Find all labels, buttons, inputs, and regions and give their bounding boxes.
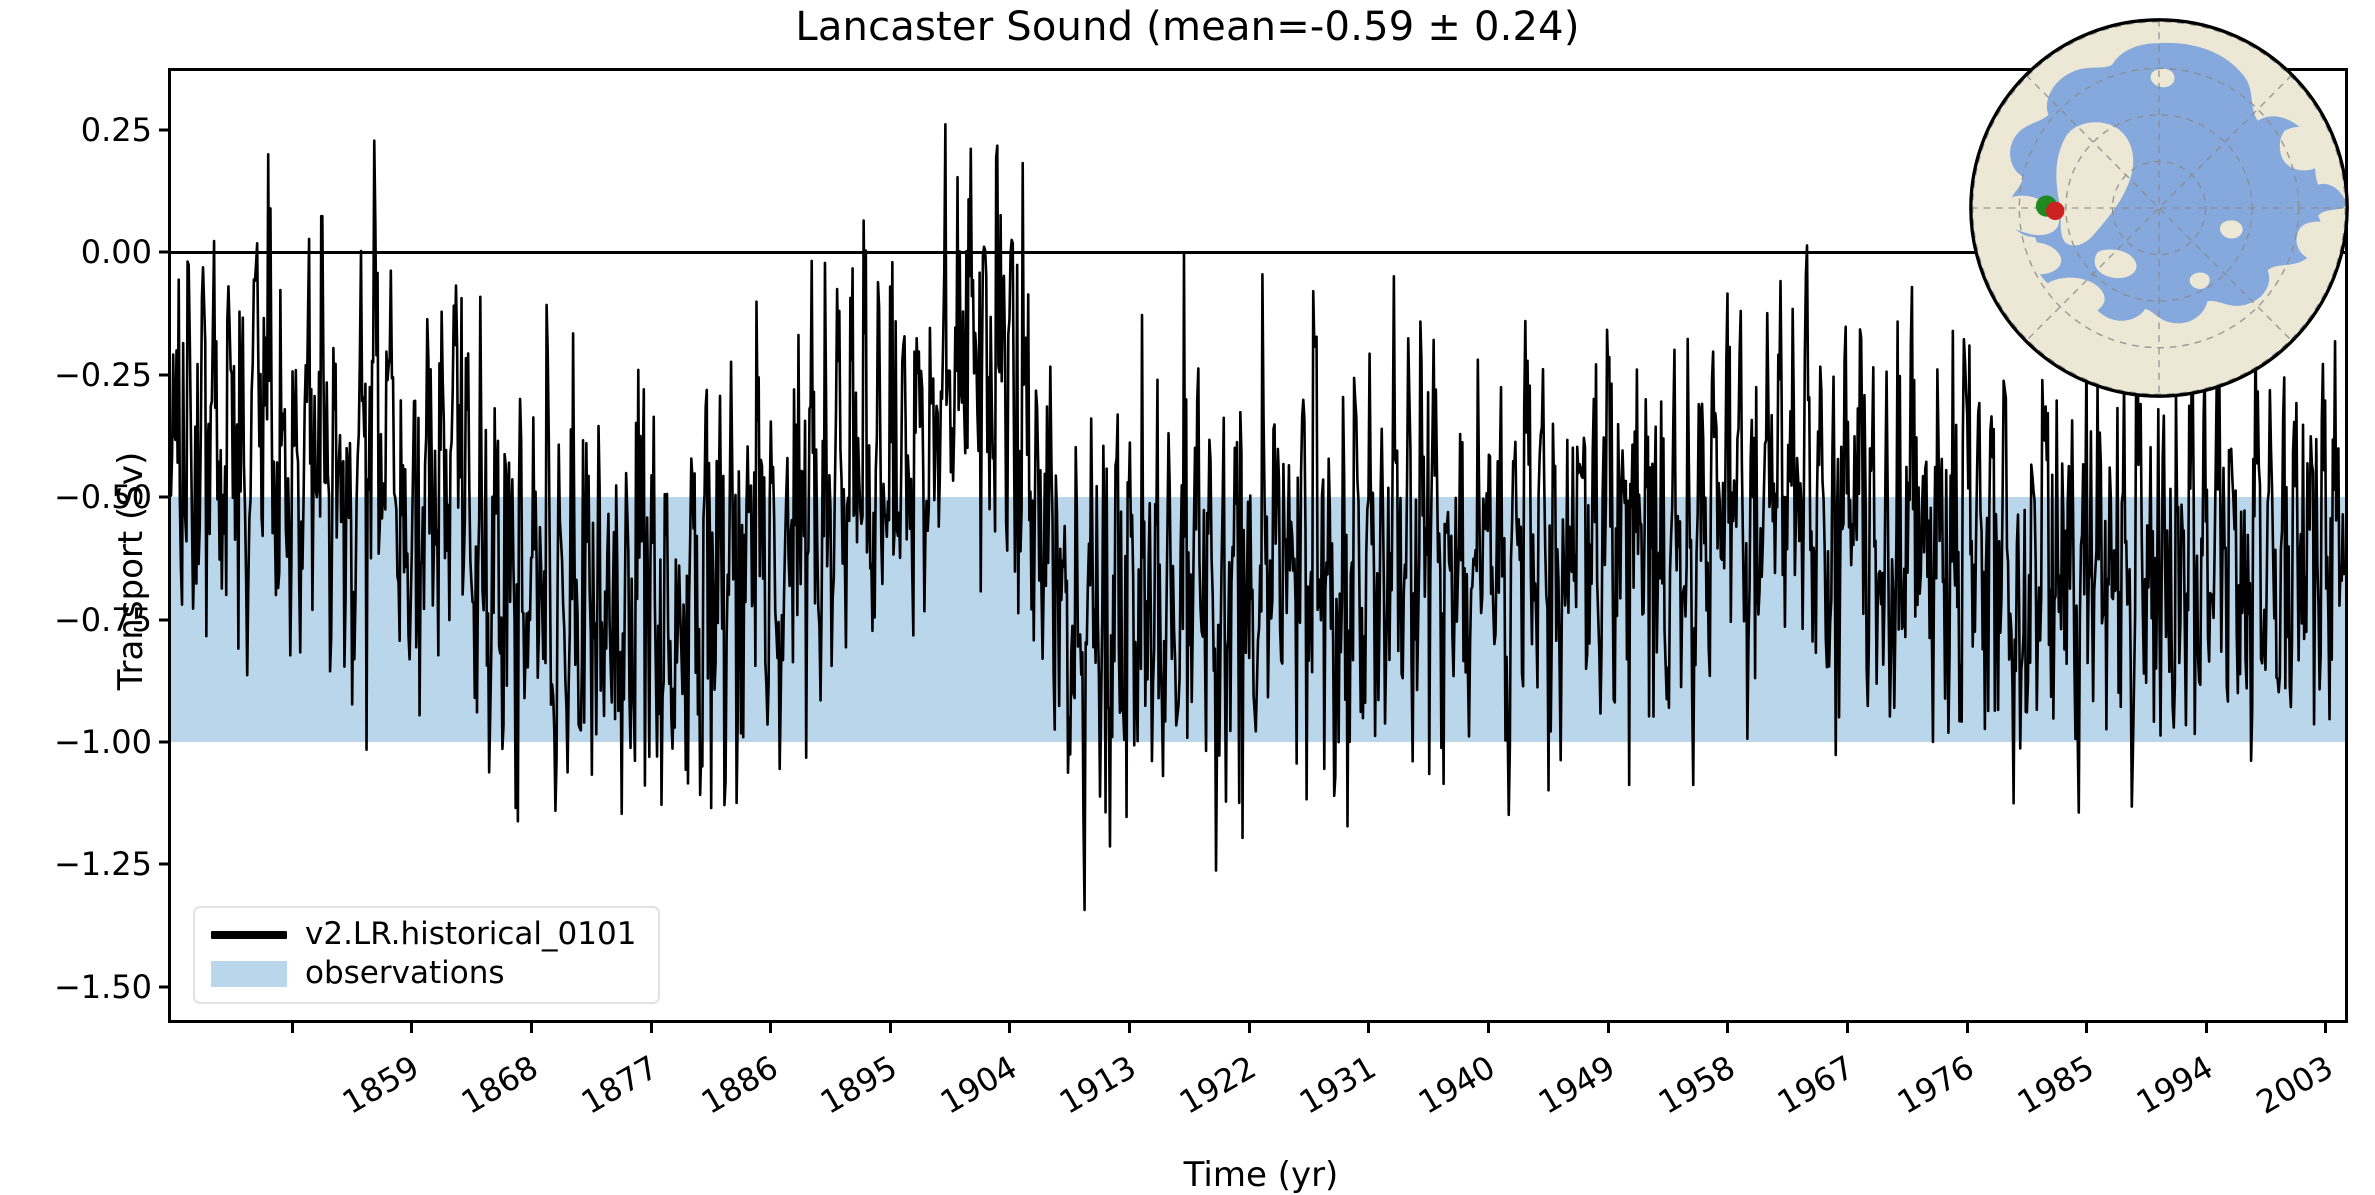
x-tick-label: 1976 [1891, 1048, 1981, 1122]
x-tick-label: 1967 [1771, 1048, 1861, 1122]
y-tick-label: −1.25 [54, 845, 171, 883]
y-tick-label: −0.75 [54, 601, 171, 639]
x-tick-label: 2012 [2369, 1048, 2375, 1122]
x-tick-mark [410, 1020, 413, 1033]
y-tick-label: 0.00 [81, 233, 171, 271]
x-tick-mark [1607, 1020, 1610, 1033]
x-tick-mark [2205, 1020, 2208, 1033]
y-tick-mark [159, 618, 171, 621]
x-tick-label: 1985 [2010, 1048, 2100, 1122]
y-tick-mark [159, 496, 171, 499]
y-tick-mark [159, 373, 171, 376]
legend-item-model[interactable]: v2.LR.historical_0101 [211, 919, 636, 950]
x-tick-mark [1128, 1020, 1131, 1033]
x-tick-mark [889, 1020, 892, 1033]
x-tick-label: 1994 [2130, 1048, 2220, 1122]
x-tick-mark [1367, 1020, 1370, 1033]
x-tick-label: 1940 [1412, 1048, 1502, 1122]
x-tick-mark [1008, 1020, 1011, 1033]
x-tick-mark [2324, 1020, 2327, 1033]
y-tick-label: −1.50 [54, 968, 171, 1006]
y-tick-label: −0.25 [54, 356, 171, 394]
x-tick-label: 1904 [934, 1048, 1024, 1122]
arctic-map-svg [1965, 14, 2353, 402]
y-tick-mark [159, 740, 171, 743]
x-tick-label: 1949 [1532, 1048, 1622, 1122]
x-tick-mark [2085, 1020, 2088, 1033]
x-tick-label: 1868 [455, 1048, 545, 1122]
x-tick-mark [1726, 1020, 1729, 1033]
x-tick-label: 1859 [336, 1048, 426, 1122]
y-tick-mark [159, 863, 171, 866]
x-tick-label: 1886 [694, 1048, 784, 1122]
y-tick-mark [159, 985, 171, 988]
x-tick-mark [769, 1020, 772, 1033]
y-tick-mark [159, 251, 171, 254]
x-tick-mark [1487, 1020, 1490, 1033]
x-tick-label: 1931 [1293, 1048, 1383, 1122]
legend-label-observations: observations [305, 958, 505, 989]
y-tick-label: −0.50 [54, 478, 171, 516]
x-tick-mark [1248, 1020, 1251, 1033]
legend-label-model: v2.LR.historical_0101 [305, 919, 636, 950]
x-tick-label: 1958 [1652, 1048, 1742, 1122]
legend-patch-swatch-icon [211, 961, 287, 987]
x-tick-label: 2003 [2250, 1048, 2340, 1122]
legend-item-observations[interactable]: observations [211, 958, 636, 989]
x-tick-mark [530, 1020, 533, 1033]
chart-legend[interactable]: v2.LR.historical_0101 observations [193, 906, 660, 1004]
x-tick-mark [1846, 1020, 1849, 1033]
x-tick-mark [291, 1020, 294, 1033]
y-tick-label: −1.00 [54, 723, 171, 761]
x-axis-label: Time (yr) [171, 1155, 2351, 1195]
x-tick-label: 1913 [1053, 1048, 1143, 1122]
y-tick-mark [159, 128, 171, 131]
y-tick-label: 0.25 [81, 111, 171, 149]
x-tick-mark [650, 1020, 653, 1033]
x-tick-label: 1895 [814, 1048, 904, 1122]
x-tick-mark [1966, 1020, 1969, 1033]
x-tick-label: 1922 [1173, 1048, 1263, 1122]
legend-line-swatch-icon [211, 931, 287, 939]
arctic-inset-map[interactable] [1965, 14, 2353, 402]
transect-marker-red[interactable] [2046, 202, 2064, 220]
x-tick-label: 1877 [575, 1048, 665, 1122]
